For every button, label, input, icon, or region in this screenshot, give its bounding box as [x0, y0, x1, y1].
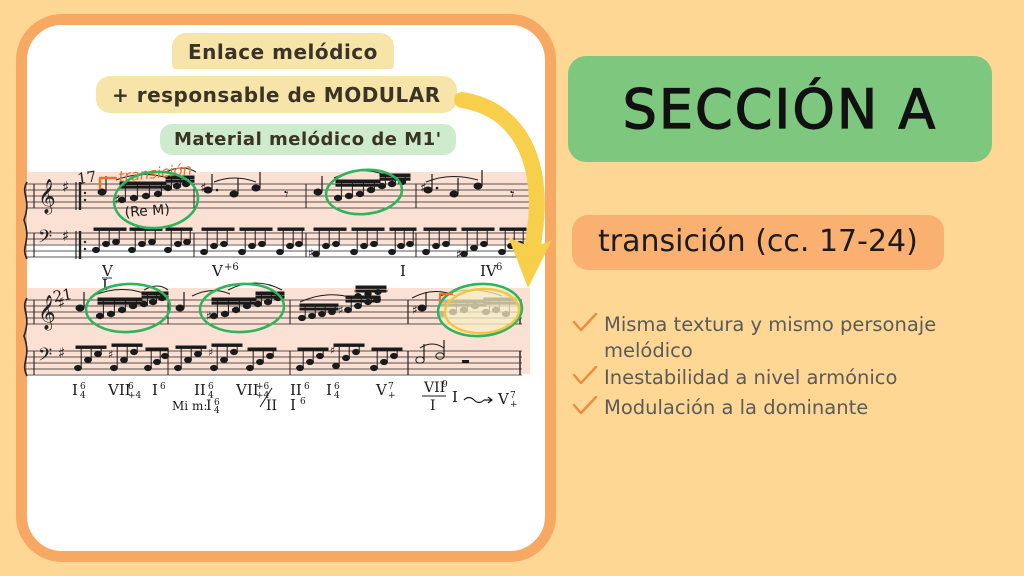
svg-text:I: I — [430, 398, 436, 414]
svg-text:6: 6 — [160, 382, 166, 392]
list-item-label: Modulación a la dominante — [602, 395, 868, 421]
svg-text:+: + — [510, 400, 518, 410]
svg-text:4: 4 — [214, 406, 220, 416]
bullet-list: Misma textura y mismo personaje melódico… — [572, 312, 1012, 425]
svg-text:II: II — [194, 381, 206, 399]
svg-text:♯: ♯ — [412, 303, 418, 317]
svg-text:6: 6 — [300, 397, 306, 407]
roman-numerals-system-2: I 64 VII 6+4 I6 II 64 Mi m: I 64 VII +6+… — [72, 380, 518, 416]
svg-text:𝄾: 𝄾 — [284, 185, 289, 205]
key-signature-1: ♯ — [62, 178, 69, 196]
treble-clef-1: 𝄞 — [38, 179, 56, 215]
svg-text:+4: +4 — [128, 391, 142, 401]
measure-number-17: 17 — [76, 167, 97, 187]
svg-text:I: I — [206, 398, 212, 414]
svg-text:I: I — [72, 381, 78, 399]
svg-text:♯: ♯ — [208, 346, 213, 359]
svg-text:+: + — [388, 391, 396, 401]
svg-text:♯: ♯ — [200, 181, 206, 196]
svg-text:♯: ♯ — [338, 303, 344, 317]
svg-text:V: V — [497, 390, 510, 408]
svg-text:+6: +6 — [224, 262, 239, 273]
list-item-label: Inestabilidad a nivel armónico — [602, 365, 897, 391]
page-title: SECCIÓN A — [568, 56, 992, 162]
check-icon — [572, 396, 602, 423]
svg-text:I: I — [326, 381, 332, 399]
svg-text:II: II — [266, 398, 277, 414]
svg-text:Mi m:: Mi m: — [172, 399, 207, 413]
key-signature-bass-1: ♯ — [62, 227, 69, 245]
svg-text:4: 4 — [334, 391, 340, 401]
svg-text:♯: ♯ — [308, 246, 314, 260]
svg-text:♯: ♯ — [108, 348, 113, 361]
list-item-label: Misma textura y mismo personaje melódico — [602, 312, 1012, 363]
annotation-label-enlace-melodico: Enlace melódico — [172, 33, 394, 69]
list-item: Misma textura y mismo personaje melódico — [572, 312, 1012, 363]
bass-clef-1: 𝄢 — [38, 227, 52, 252]
svg-text:6: 6 — [496, 262, 502, 273]
check-icon — [572, 366, 602, 393]
subtitle-badge: transición (cc. 17-24) — [572, 215, 944, 270]
svg-text:I: I — [400, 262, 406, 280]
bass-clef-2: 𝄢 — [38, 345, 52, 370]
svg-text:I: I — [152, 381, 158, 399]
svg-text:V: V — [211, 262, 224, 280]
key-signature-bass-2: ♯ — [58, 344, 65, 362]
svg-text:4: 4 — [80, 391, 86, 401]
svg-text:𝄾: 𝄾 — [510, 185, 515, 205]
svg-text:V: V — [375, 381, 388, 399]
svg-text:♯: ♯ — [420, 181, 426, 196]
check-icon — [572, 313, 602, 340]
list-item: Inestabilidad a nivel armónico — [572, 365, 1012, 393]
section-title-card: SECCIÓN A — [568, 56, 992, 162]
svg-text:6: 6 — [304, 382, 310, 392]
measure-number-21: 21 — [52, 285, 74, 306]
svg-text:I: I — [452, 388, 458, 406]
svg-text:♯: ♯ — [330, 344, 335, 357]
handwritten-key-ReM: (Re M) — [124, 202, 170, 221]
annotation-label-responsable-modular: + responsable de MODULAR — [96, 76, 457, 113]
svg-text:9: 9 — [442, 380, 448, 390]
svg-text:I: I — [290, 396, 296, 414]
svg-text:♯: ♯ — [456, 247, 462, 261]
list-item: Modulación a la dominante — [572, 395, 1012, 423]
annotation-label-material-melodico: Material melódico de M1' — [160, 124, 456, 155]
